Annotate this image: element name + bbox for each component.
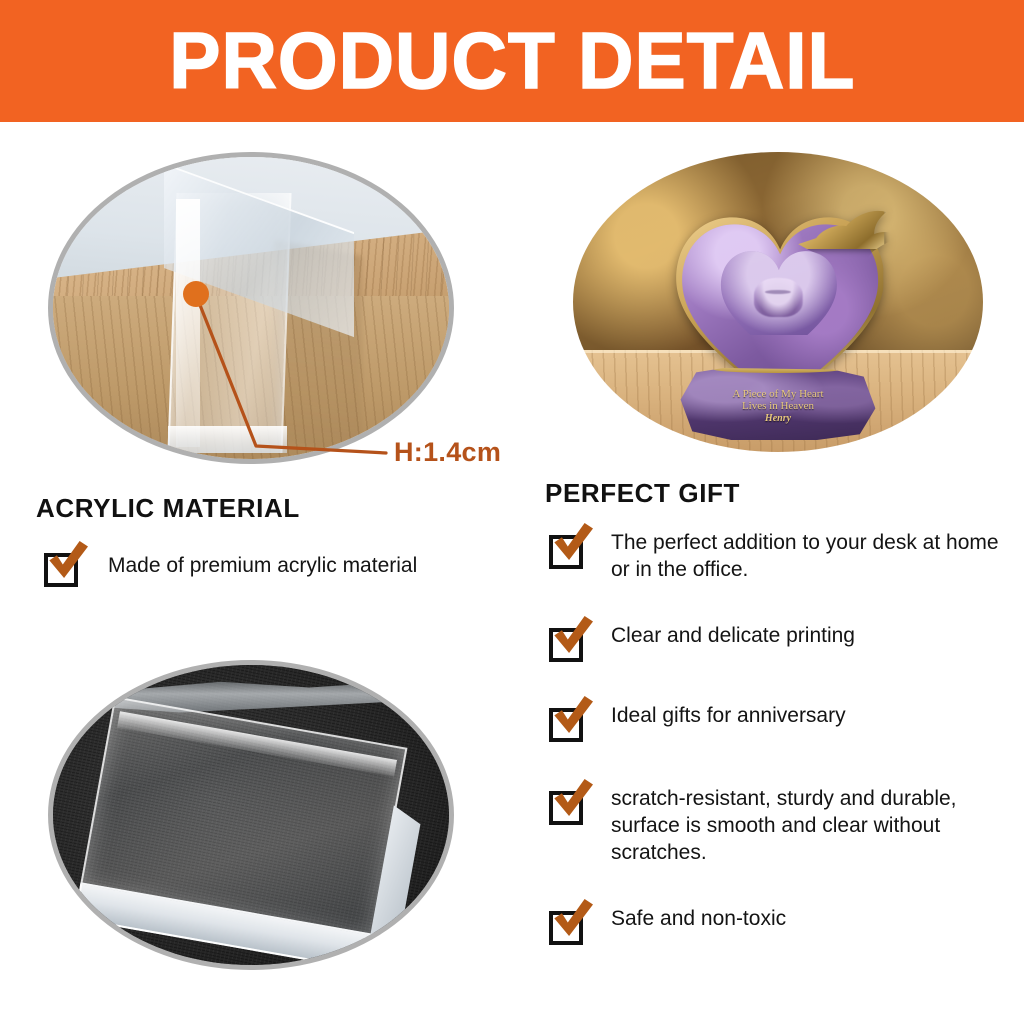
checkbox-checked-icon (549, 529, 589, 569)
product-photo-keepsake: A Piece of My Heart Lives in Heaven Henr… (573, 152, 983, 452)
feature-text: Made of premium acrylic material (108, 553, 417, 580)
checkbox-checked-icon (549, 785, 589, 825)
feature-item-gift-3: scratch-resistant, sturdy and durable, s… (549, 783, 1014, 867)
checkbox-checked-icon (549, 702, 589, 742)
stone-base: A Piece of My Heart Lives in Heaven Henr… (681, 368, 876, 440)
feature-item-gift-4: Safe and non-toxic (549, 903, 1004, 945)
checkbox-checked-icon (549, 905, 589, 945)
amethyst-heart (676, 214, 880, 372)
portrait-photo (754, 278, 803, 317)
page-title: PRODUCT DETAIL (169, 21, 855, 101)
memorial-keepsake: A Piece of My Heart Lives in Heaven Henr… (667, 200, 888, 440)
feature-text: Clear and delicate printing (611, 623, 855, 650)
product-photo-acrylic-slab (48, 660, 454, 970)
header-banner: PRODUCT DETAIL (0, 0, 1024, 122)
feature-text: The perfect addition to your desk at hom… (611, 530, 1004, 584)
heart-inner-window (717, 246, 839, 335)
engraving-line-2: Lives in Heaven (681, 400, 876, 412)
photo-scene-acrylic-edge (53, 157, 449, 459)
feature-item-gift-2: Ideal gifts for anniversary (549, 700, 1004, 742)
engraving-name: Henry (681, 413, 876, 424)
acrylic-block-base-glow (168, 426, 287, 453)
section-title-perfect-gift: PERFECT GIFT (545, 478, 740, 509)
engraving-line-1: A Piece of My Heart (681, 388, 876, 400)
checkbox-checked-icon (549, 622, 589, 662)
feature-item-acrylic-0: Made of premium acrylic material (44, 545, 514, 587)
product-detail-page: PRODUCT DETAIL (0, 0, 1024, 1024)
base-engraving: A Piece of My Heart Lives in Heaven Henr… (681, 388, 876, 424)
photo-scene-keepsake: A Piece of My Heart Lives in Heaven Henr… (573, 152, 983, 452)
feature-text: Safe and non-toxic (611, 906, 786, 933)
acrylic-block-highlight (176, 199, 200, 447)
section-title-acrylic: ACRYLIC MATERIAL (36, 493, 300, 524)
feature-item-gift-0: The perfect addition to your desk at hom… (549, 527, 1004, 584)
checkbox-checked-icon (44, 547, 84, 587)
thickness-label: H:1.4cm (394, 437, 501, 468)
feature-item-gift-1: Clear and delicate printing (549, 620, 1004, 662)
feature-text: scratch-resistant, sturdy and durable, s… (611, 786, 1014, 867)
product-photo-acrylic-edge (48, 152, 454, 464)
feature-text: Ideal gifts for anniversary (611, 703, 846, 730)
photo-scene-acrylic-slab (53, 665, 449, 965)
